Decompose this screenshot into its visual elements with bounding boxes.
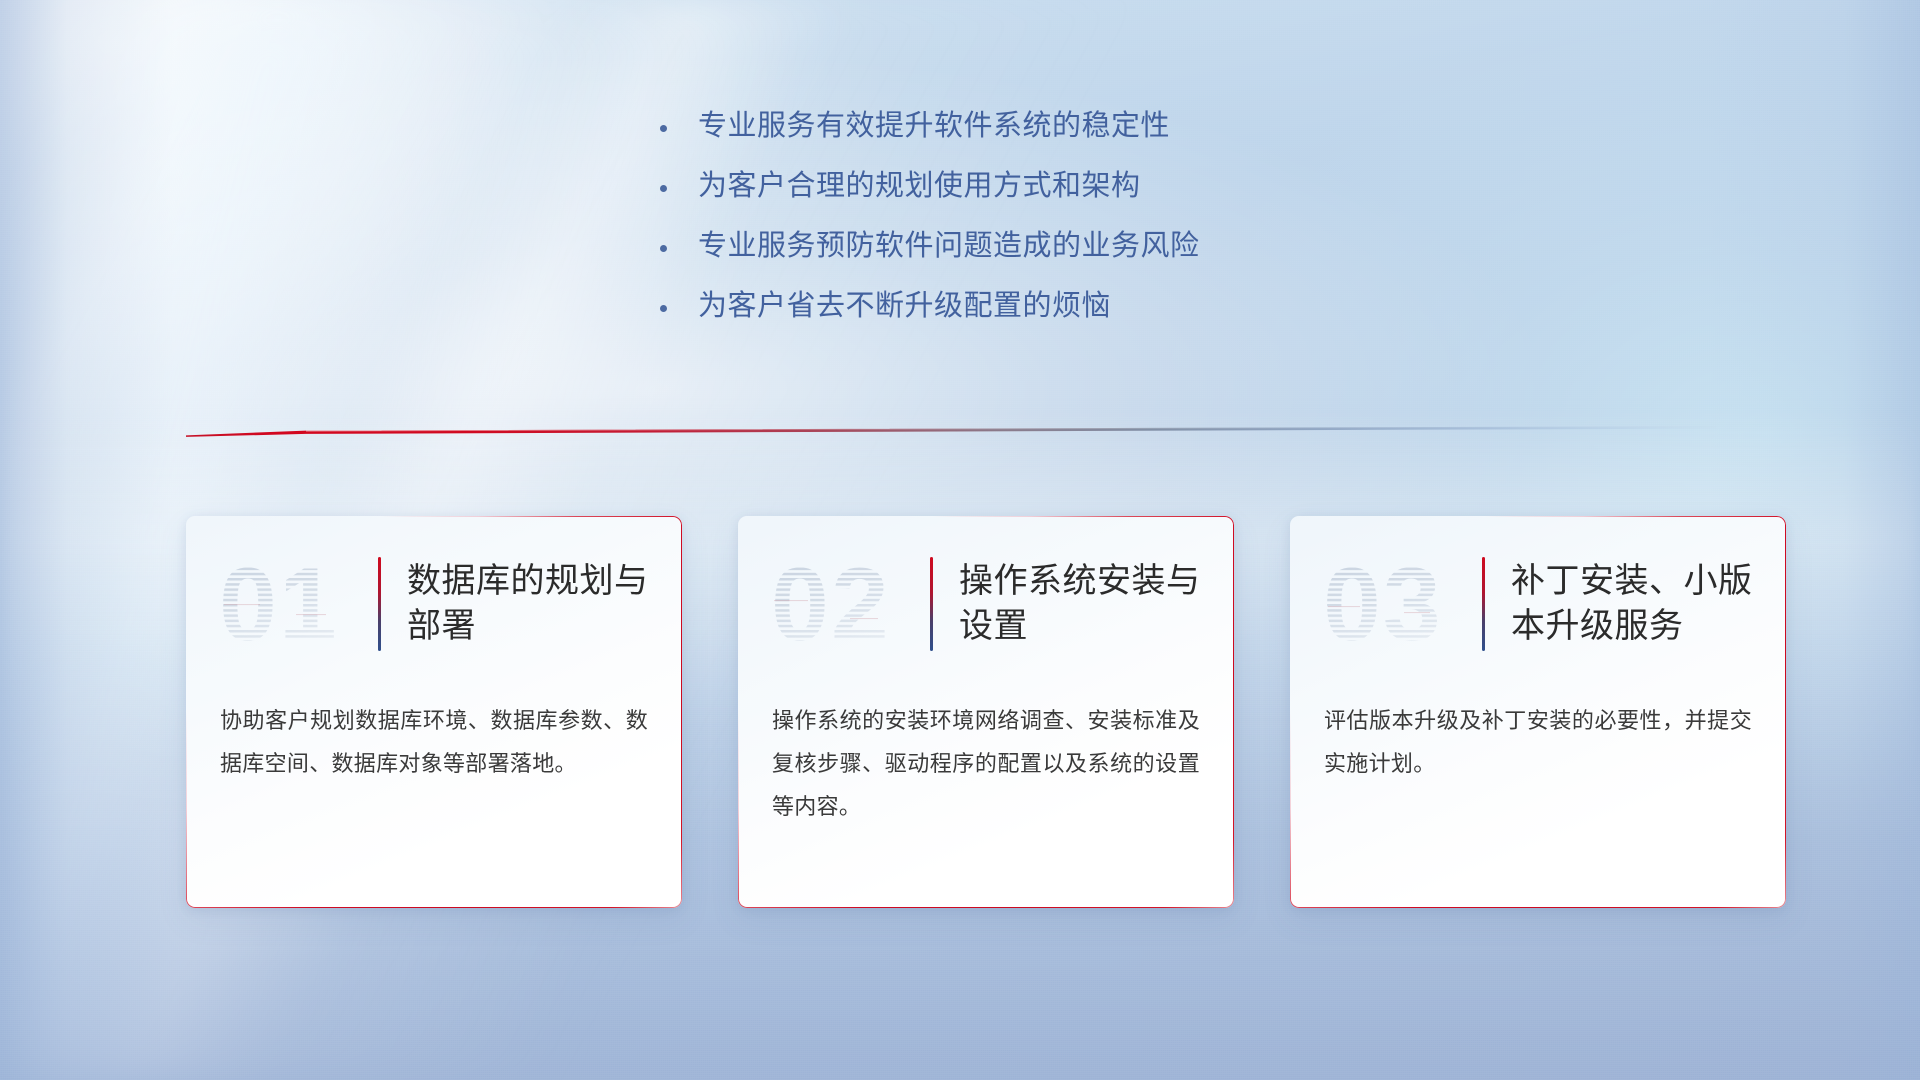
bullet-dot-icon bbox=[660, 125, 667, 132]
card-header: 01 数据库的规划与部署 bbox=[186, 516, 682, 692]
slide-canvas: 专业服务有效提升软件系统的稳定性 为客户合理的规划使用方式和架构 专业服务预防软… bbox=[0, 0, 1920, 1080]
gradient-wedge-divider bbox=[186, 424, 1716, 438]
card-title: 补丁安装、小版本升级服务 bbox=[1511, 559, 1771, 649]
bullet-dot-icon bbox=[660, 185, 667, 192]
card-accent-rule bbox=[378, 557, 381, 651]
service-card-02[interactable]: 02 操作系统安装与设置 操作系统的安装环境网络调查、安装标准及复核步骤、驱动程… bbox=[738, 516, 1234, 908]
service-card-03[interactable]: 03 补丁安装、小版本升级服务 评估版本升级及补丁安装的必要性，并提交实施计划。 bbox=[1290, 516, 1786, 908]
list-item: 专业服务预防软件问题造成的业务风险 bbox=[660, 232, 1560, 261]
bullet-dot-icon bbox=[660, 305, 667, 312]
card-title: 操作系统安装与设置 bbox=[959, 559, 1219, 649]
list-item: 专业服务有效提升软件系统的稳定性 bbox=[660, 112, 1560, 141]
card-number-03-graphic: 03 bbox=[1322, 552, 1464, 656]
card-header: 02 操作系统安装与设置 bbox=[738, 516, 1234, 692]
card-accent-rule bbox=[930, 557, 933, 651]
card-number-02-graphic: 02 bbox=[770, 552, 912, 656]
svg-text:03: 03 bbox=[1323, 552, 1443, 656]
benefits-bullet-list: 专业服务有效提升软件系统的稳定性 为客户合理的规划使用方式和架构 专业服务预防软… bbox=[660, 112, 1560, 352]
card-accent-rule bbox=[1482, 557, 1485, 651]
bullet-dot-icon bbox=[660, 245, 667, 252]
list-item: 为客户合理的规划使用方式和架构 bbox=[660, 172, 1560, 201]
bullet-text: 专业服务有效提升软件系统的稳定性 bbox=[698, 112, 1170, 141]
bullet-text: 为客户合理的规划使用方式和架构 bbox=[698, 172, 1141, 201]
card-header: 03 补丁安装、小版本升级服务 bbox=[1290, 516, 1786, 692]
card-body-text: 评估版本升级及补丁安装的必要性，并提交实施计划。 bbox=[1290, 692, 1786, 786]
card-number-01-graphic: 01 bbox=[218, 552, 360, 656]
card-title: 数据库的规划与部署 bbox=[407, 559, 667, 649]
list-item: 为客户省去不断升级配置的烦恼 bbox=[660, 292, 1560, 321]
bullet-text: 为客户省去不断升级配置的烦恼 bbox=[698, 292, 1111, 321]
bullet-text: 专业服务预防软件问题造成的业务风险 bbox=[698, 232, 1200, 261]
service-card-01[interactable]: 01 数据库的规划与部署 协助客户规划数据库环境、数据库参数、数据库空间、数据库… bbox=[186, 516, 682, 908]
service-card-row: 01 数据库的规划与部署 协助客户规划数据库环境、数据库参数、数据库空间、数据库… bbox=[186, 516, 1786, 916]
svg-text:02: 02 bbox=[771, 552, 891, 656]
card-body-text: 协助客户规划数据库环境、数据库参数、数据库空间、数据库对象等部署落地。 bbox=[186, 692, 682, 786]
card-body-text: 操作系统的安装环境网络调查、安装标准及复核步骤、驱动程序的配置以及系统的设置等内… bbox=[738, 692, 1234, 829]
